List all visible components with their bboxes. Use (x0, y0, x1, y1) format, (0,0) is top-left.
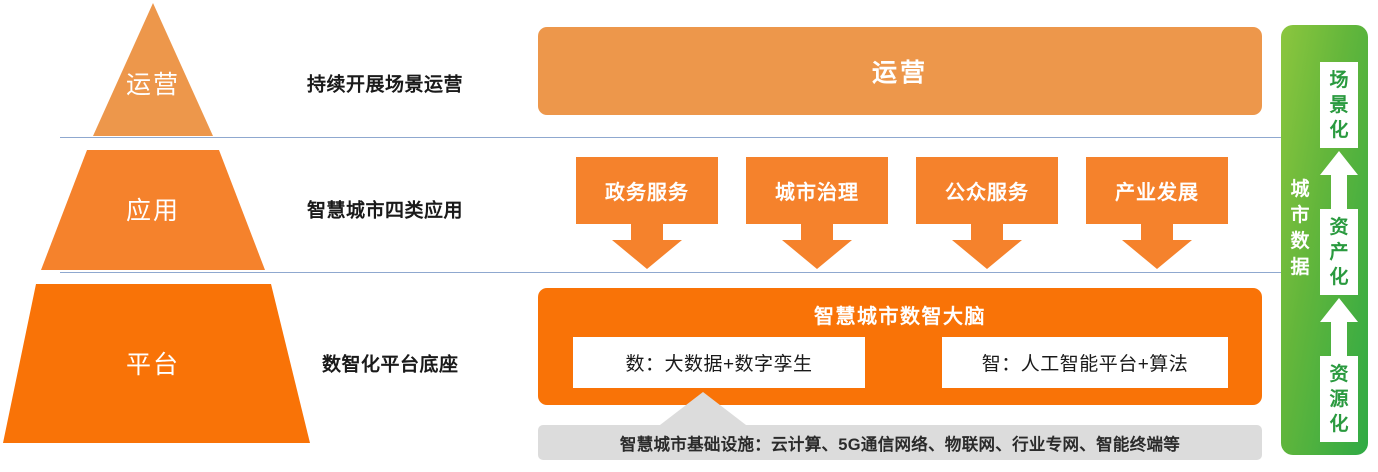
stage-char: 化 (1329, 118, 1348, 143)
application-arrow-2 (916, 224, 1058, 270)
stage-box-scenarioization[interactable]: 场 景 化 (1320, 62, 1358, 148)
platform-card-label: 智：人工智能平台+算法 (982, 349, 1189, 376)
pyramid-tier-platform-label: 平台 (126, 345, 180, 381)
platform-card-intelligence[interactable]: 智：人工智能平台+算法 (942, 337, 1228, 388)
operation-banner-label: 运营 (872, 53, 928, 89)
application-label: 产业发展 (1115, 176, 1199, 205)
operation-banner[interactable]: 运营 (538, 27, 1262, 115)
caption-operation: 持续开展场景运营 (307, 70, 463, 97)
application-arrow-1 (746, 224, 888, 270)
platform-brain-title: 智慧城市数智大脑 (538, 300, 1262, 329)
application-label: 城市治理 (775, 176, 859, 205)
city-data-char-3: 据 (1287, 255, 1313, 281)
city-data-vertical-label: 城 市 数 据 (1287, 177, 1313, 281)
stage-box-assetization[interactable]: 资 产 化 (1320, 209, 1358, 295)
application-column-2: 公众服务 (916, 157, 1058, 270)
platform-card-label: 数：大数据+数字孪生 (625, 349, 812, 376)
stage-char: 源 (1329, 387, 1348, 412)
application-box-city-governance[interactable]: 城市治理 (746, 157, 888, 224)
application-column-0: 政务服务 (576, 157, 718, 270)
application-arrow-3 (1086, 224, 1228, 270)
application-column-3: 产业发展 (1086, 157, 1228, 270)
stage-char: 化 (1329, 412, 1348, 437)
city-data-char-2: 数 (1287, 229, 1313, 255)
stage-char: 产 (1329, 240, 1348, 265)
platform-brain-box[interactable]: 智慧城市数智大脑 数：大数据+数字孪生 智：人工智能平台+算法 (538, 288, 1262, 405)
infrastructure-bar[interactable]: 智慧城市基础设施：云计算、5G通信网络、物联网、行业专网、智能终端等 (538, 425, 1262, 460)
city-data-panel[interactable]: 城 市 数 据 场 景 化 资 产 化 资 源 化 (1281, 25, 1368, 455)
stage-box-resourcification[interactable]: 资 源 化 (1320, 356, 1358, 442)
city-data-char-1: 市 (1287, 203, 1313, 229)
diagram-canvas: 运营 应用 平台 持续开展场景运营 智慧城市四类应用 数智化平台底座 运营 政务… (0, 0, 1378, 472)
platform-card-data[interactable]: 数：大数据+数字孪生 (573, 337, 865, 388)
caption-platform: 数智化平台底座 (322, 350, 459, 377)
stage-char: 场 (1329, 68, 1348, 93)
stage-char: 资 (1329, 215, 1348, 240)
pyramid-tier-platform[interactable] (0, 0, 320, 460)
stage-up-arrow-icon-0 (1320, 151, 1358, 209)
application-label: 公众服务 (945, 176, 1029, 205)
application-arrow-0 (576, 224, 718, 270)
application-column-1: 城市治理 (746, 157, 888, 270)
application-label: 政务服务 (605, 176, 689, 205)
stage-up-arrow-icon-1 (1320, 298, 1358, 356)
stage-char: 资 (1329, 362, 1348, 387)
stage-char: 化 (1329, 265, 1348, 290)
application-box-government-service[interactable]: 政务服务 (576, 157, 718, 224)
infrastructure-label: 智慧城市基础设施：云计算、5G通信网络、物联网、行业专网、智能终端等 (620, 431, 1180, 455)
application-box-industry-development[interactable]: 产业发展 (1086, 157, 1228, 224)
stage-char: 景 (1329, 93, 1348, 118)
caption-application: 智慧城市四类应用 (307, 196, 463, 223)
city-data-char-0: 城 (1287, 177, 1313, 203)
application-box-public-service[interactable]: 公众服务 (916, 157, 1058, 224)
